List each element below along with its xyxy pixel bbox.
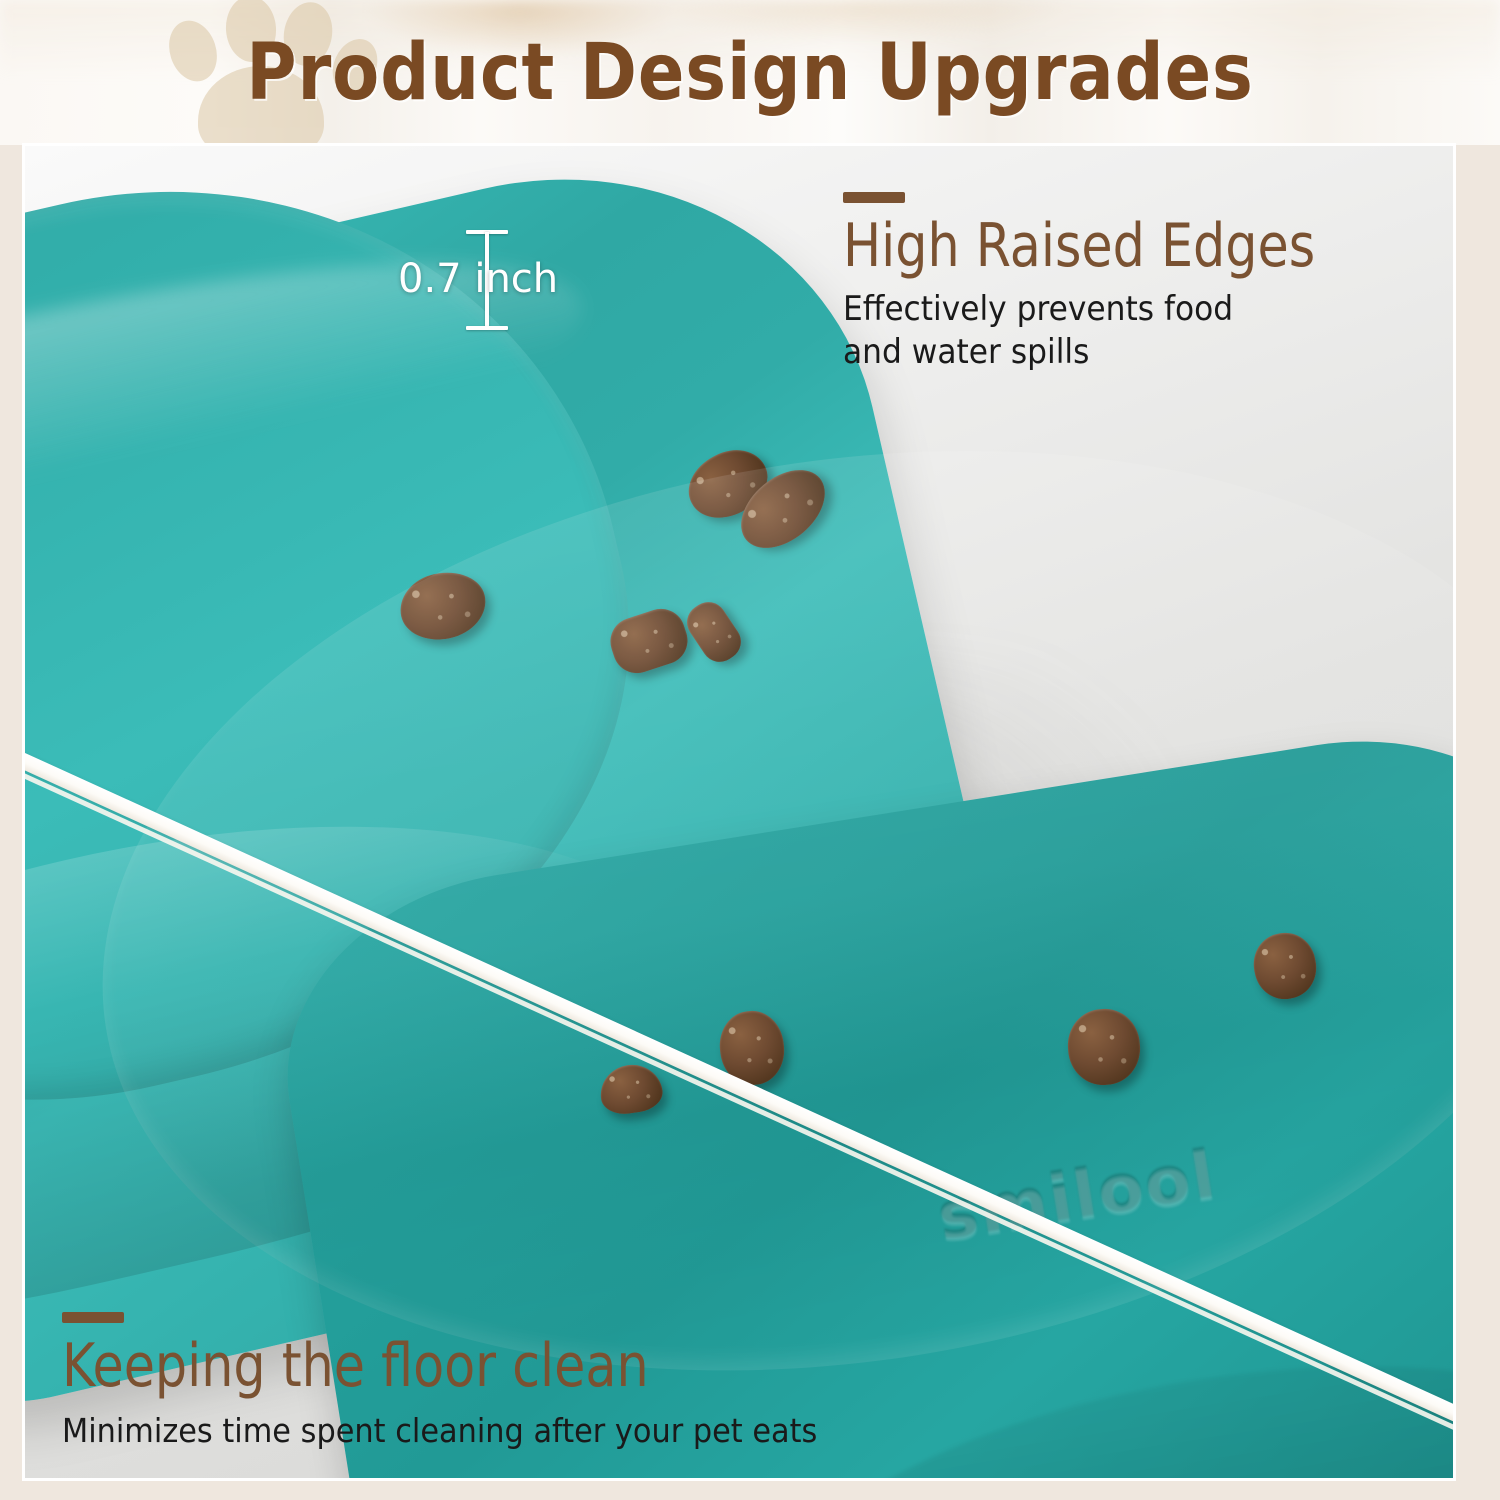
feature-accent-bar (843, 192, 905, 203)
feature-subtext: Minimizes time spent cleaning after your… (62, 1410, 817, 1451)
feature-subtext: Effectively prevents food and water spil… (843, 288, 1305, 373)
dimension-callout: 0.7 inch (432, 228, 622, 338)
feature-heading: High Raised Edges (843, 215, 1315, 278)
feature-heading: Keeping the floor clean (62, 1335, 834, 1398)
dimension-label: 0.7 inch (398, 256, 618, 302)
feature-subtext-line: Effectively prevents food (843, 288, 1305, 331)
feature-subtext-line: and water spills (843, 331, 1305, 374)
feature-accent-bar (62, 1312, 124, 1323)
product-infographic: Product Design Upgrades smilool (0, 0, 1500, 1500)
page-title: Product Design Upgrades (90, 0, 1410, 145)
feature-high-raised-edges: High Raised Edges Effectively prevents f… (843, 192, 1345, 373)
header-band: Product Design Upgrades (0, 0, 1500, 145)
feature-keeping-floor-clean: Keeping the floor clean Minimizes time s… (62, 1312, 883, 1451)
dimension-arrow-bottom-cap (466, 326, 508, 330)
